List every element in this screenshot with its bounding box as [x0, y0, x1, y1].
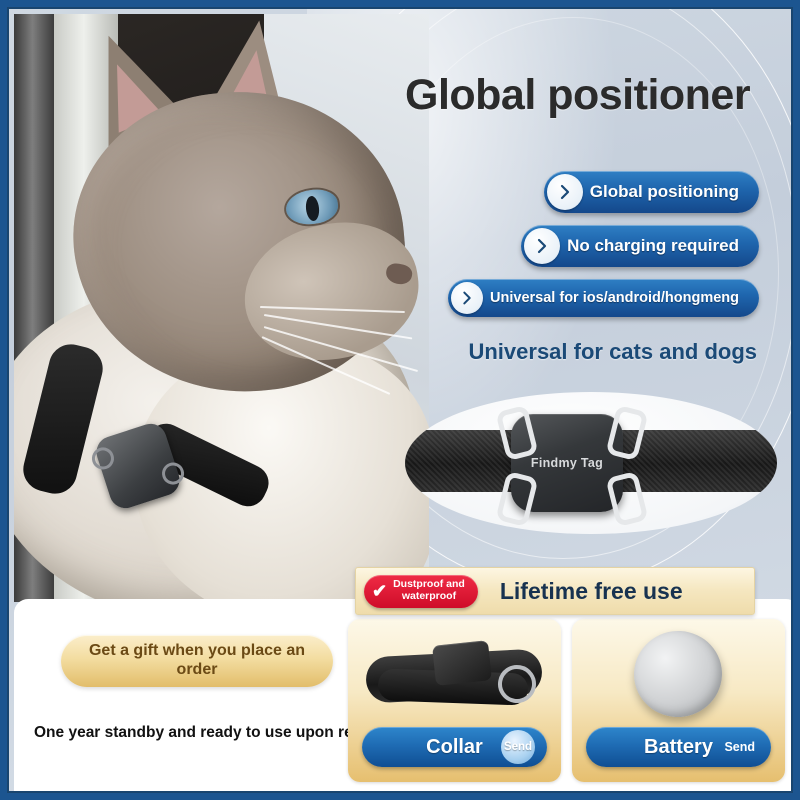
battery-button[interactable]: Battery Send: [586, 727, 771, 767]
coin-battery-photo: [572, 625, 785, 725]
gift-offer-label: Get a gift when you place an order: [61, 642, 333, 679]
cat-hero-photo: [14, 14, 429, 602]
send-label[interactable]: Send: [724, 740, 755, 754]
feature-pill-label: Global positioning: [590, 182, 739, 202]
dustproof-badge-label: Dustproof and waterproof: [393, 579, 465, 603]
feature-pill-universal-os[interactable]: Universal for ios/android/hongmeng: [448, 279, 759, 317]
feature-pill-label: No charging required: [567, 236, 739, 256]
collar-buckle: [432, 640, 492, 686]
dustproof-badge: ✔ Dustproof and waterproof: [364, 575, 478, 608]
subline-text: Universal for cats and dogs: [468, 339, 757, 365]
collar-photo: [360, 627, 550, 723]
chevron-right-icon: [547, 174, 583, 210]
product-poster: Global positioner Global positioning No …: [0, 0, 800, 800]
chevron-right-icon: [524, 228, 560, 264]
feature-pill-no-charging[interactable]: No charging required: [521, 225, 759, 267]
product-showcase: Findmy Tag: [405, 392, 777, 534]
feature-pill-global-positioning[interactable]: Global positioning: [544, 171, 759, 213]
lifetime-headline: Lifetime free use: [500, 578, 683, 605]
send-badge[interactable]: Send: [501, 730, 535, 764]
product-card-collar[interactable]: Collar Send: [348, 619, 561, 782]
coin-cell: [628, 625, 727, 722]
chevron-right-icon: [451, 282, 483, 314]
product-card-battery[interactable]: Battery Send: [572, 619, 785, 782]
standby-note: One year standby and ready to use upon r…: [34, 724, 354, 742]
feature-list: Global positioning No charging required …: [448, 171, 759, 317]
bottom-panel: Get a gift when you place an order One y…: [14, 599, 800, 800]
feature-pill-label: Universal for ios/android/hongmeng: [490, 290, 739, 306]
collar-button[interactable]: Collar Send: [362, 727, 547, 767]
battery-button-label: Battery: [644, 736, 713, 759]
send-badge-label: Send: [504, 741, 532, 753]
tag-brand-label: Findmy Tag: [531, 456, 603, 470]
page-title: Global positioner: [405, 71, 750, 120]
collar-button-label: Collar: [426, 736, 483, 759]
gift-offer-badge[interactable]: Get a gift when you place an order: [61, 635, 333, 687]
check-icon: ✔: [372, 582, 387, 600]
lifetime-banner: ✔ Dustproof and waterproof Lifetime free…: [355, 567, 755, 615]
